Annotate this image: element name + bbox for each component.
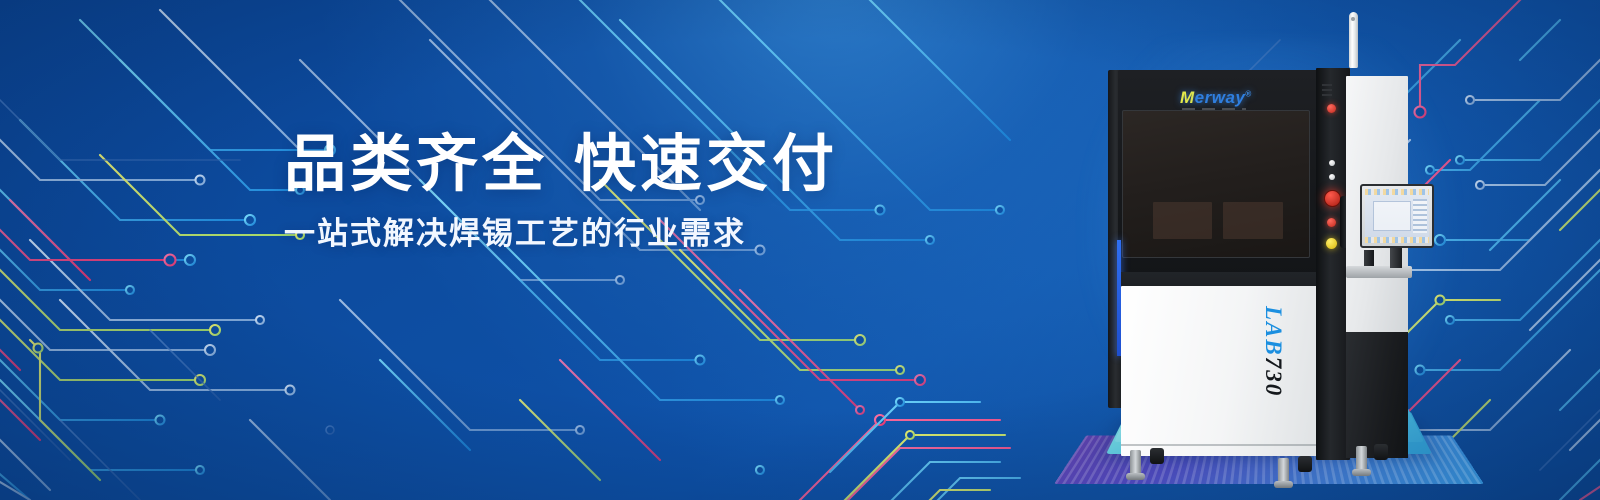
cabinet-seam <box>1121 444 1319 446</box>
operator-monitor[interactable] <box>1360 184 1434 248</box>
machine-lower-cabinet <box>1121 286 1319 456</box>
model-number: 730 <box>1261 357 1286 398</box>
caster-right <box>1374 444 1388 460</box>
emergency-stop-button[interactable] <box>1324 190 1341 207</box>
leveling-foot-center <box>1278 458 1289 484</box>
leveling-foot-right <box>1356 446 1367 472</box>
status-light-red[interactable] <box>1327 218 1336 227</box>
status-light-power[interactable] <box>1327 104 1336 113</box>
page-subtitle: 一站式解决焊锡工艺的行业需求 <box>284 215 904 254</box>
headline-part-1: 品类齐全 <box>284 130 548 199</box>
screen-toolbar-bottom <box>1365 237 1429 243</box>
model-prefix: LAB <box>1261 306 1286 357</box>
status-light-yellow[interactable] <box>1326 238 1337 249</box>
product-illustration: Merway® LAB730 <box>1040 0 1510 500</box>
monitor-screen <box>1365 189 1429 243</box>
screen-plot-area <box>1373 201 1411 231</box>
brand-logo: Merway® <box>1180 88 1252 108</box>
caster-left <box>1150 448 1164 464</box>
model-label: LAB730 <box>1260 306 1286 397</box>
headline-part-2: 快速交付 <box>574 130 838 199</box>
leveling-foot-left <box>1130 450 1141 476</box>
signal-tube-icon <box>1349 12 1358 68</box>
screen-side-panel <box>1413 199 1427 233</box>
monitor-shelf <box>1346 266 1412 278</box>
brand-logo-text: erway <box>1195 88 1246 107</box>
status-light-a[interactable] <box>1329 160 1335 166</box>
hero-copy: 品类齐全快速交付 一站式解决焊锡工艺的行业需求 <box>284 132 904 254</box>
screen-toolbar-top <box>1365 189 1429 195</box>
machine-tower-base <box>1346 332 1408 458</box>
page-title: 品类齐全快速交付 <box>284 132 904 199</box>
brand-logo-mark: M <box>1180 88 1195 107</box>
vent-icon <box>1322 84 1332 98</box>
control-column <box>1316 68 1350 460</box>
hero-banner: 品类齐全快速交付 一站式解决焊锡工艺的行业需求 Merway® <box>0 0 1600 500</box>
status-light-b[interactable] <box>1329 174 1335 180</box>
monitor-neck <box>1390 246 1402 268</box>
machine-body: Merway® LAB730 <box>1108 62 1408 402</box>
inspection-window <box>1122 110 1310 258</box>
trademark-icon: ® <box>1245 89 1251 98</box>
caster-center <box>1298 456 1312 472</box>
